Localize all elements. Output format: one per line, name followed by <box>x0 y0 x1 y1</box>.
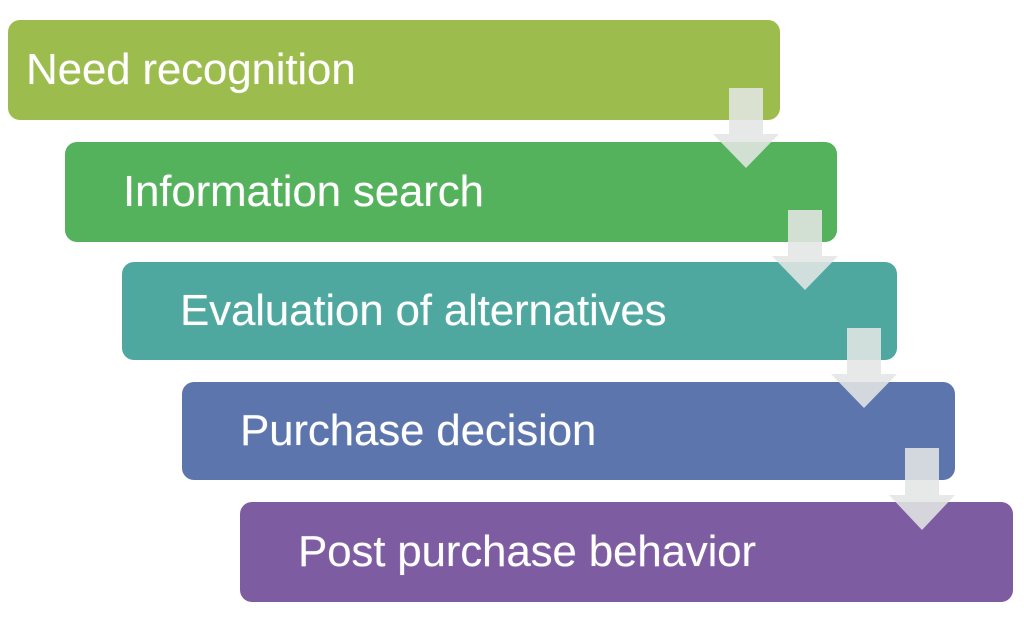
process-stage-evaluation-of-alternatives[interactable]: Evaluation of alternatives <box>122 262 897 360</box>
process-stage-purchase-decision[interactable]: Purchase decision <box>182 382 955 480</box>
process-stage-label: Purchase decision <box>240 409 596 453</box>
process-stage-information-search[interactable]: Information search <box>65 142 837 242</box>
process-stage-label: Information search <box>123 170 484 214</box>
process-stage-need-recognition[interactable]: Need recognition <box>8 20 780 120</box>
process-stage-label: Post purchase behavior <box>298 530 756 574</box>
process-stage-label: Need recognition <box>26 48 355 92</box>
process-diagram-canvas: Need recognition Information search Eval… <box>0 0 1024 622</box>
process-stage-post-purchase-behavior[interactable]: Post purchase behavior <box>240 502 1013 602</box>
process-stage-label: Evaluation of alternatives <box>180 289 666 333</box>
